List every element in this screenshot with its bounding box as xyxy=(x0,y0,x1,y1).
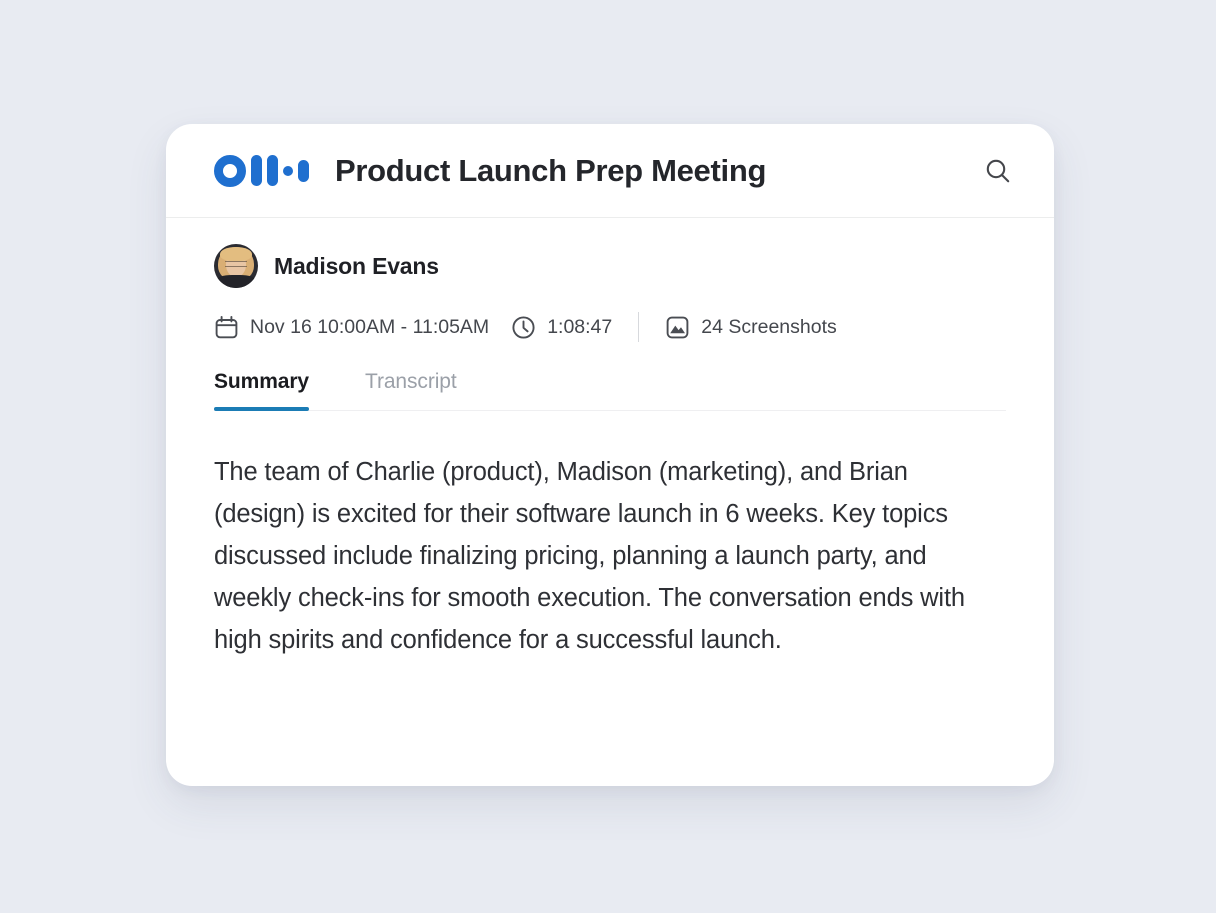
meeting-metadata: Nov 16 10:00AM - 11:05AM 1:08:47 xyxy=(214,288,1006,342)
page-title: Product Launch Prep Meeting xyxy=(335,153,766,189)
logo-dot-icon xyxy=(283,166,293,176)
card-body: Madison Evans Nov 16 10:00AM - 11:05AM xyxy=(166,218,1054,661)
search-button[interactable] xyxy=(976,149,1020,193)
logo-bar-1 xyxy=(251,155,262,186)
speaker-name: Madison Evans xyxy=(274,253,439,280)
avatar xyxy=(214,244,258,288)
summary-text: The team of Charlie (product), Madison (… xyxy=(214,451,1004,661)
search-icon xyxy=(983,156,1013,186)
meta-duration: 1:08:47 xyxy=(511,315,612,340)
tab-summary[interactable]: Summary xyxy=(214,370,309,410)
logo-dot-column xyxy=(283,166,293,176)
image-icon xyxy=(665,315,690,340)
logo-bar-2 xyxy=(267,155,278,186)
tab-transcript[interactable]: Transcript xyxy=(365,370,457,410)
meta-screenshots: 24 Screenshots xyxy=(665,315,837,340)
meta-date: Nov 16 10:00AM - 11:05AM xyxy=(214,315,489,340)
meta-divider xyxy=(638,312,639,342)
content-tabs: Summary Transcript xyxy=(214,370,1006,411)
logo-bar-3 xyxy=(298,160,309,182)
meeting-card: Product Launch Prep Meeting Madison Evan… xyxy=(166,124,1054,786)
clock-icon xyxy=(511,315,536,340)
meta-date-label: Nov 16 10:00AM - 11:05AM xyxy=(250,316,489,339)
speaker-row: Madison Evans xyxy=(214,218,1006,288)
meta-screenshots-label: 24 Screenshots xyxy=(701,316,837,339)
calendar-icon xyxy=(214,315,239,340)
card-header: Product Launch Prep Meeting xyxy=(166,124,1054,218)
logo-ring-icon xyxy=(214,155,246,187)
meta-duration-label: 1:08:47 xyxy=(547,316,612,339)
otter-waveform-logo[interactable] xyxy=(214,154,309,188)
